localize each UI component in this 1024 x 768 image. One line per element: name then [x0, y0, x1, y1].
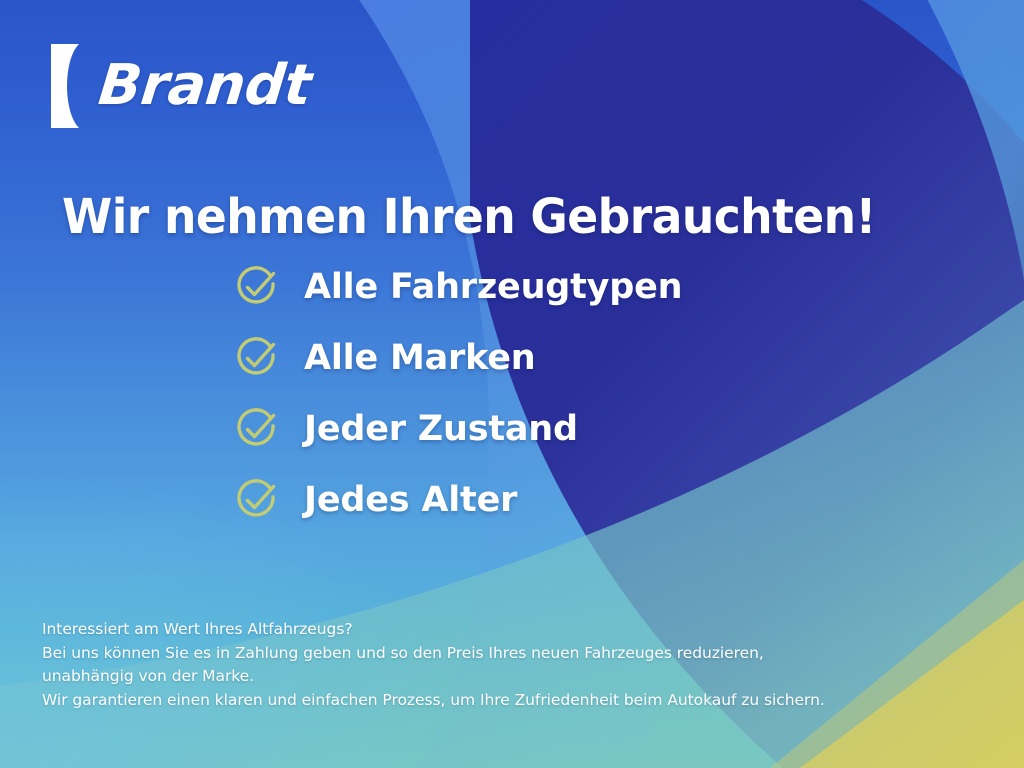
- right-edge-band-shape: [905, 0, 1024, 520]
- list-item: Jeder Zustand: [232, 404, 682, 454]
- footer-copy: Interessiert am Wert Ihres Altfahrzeugs?…: [42, 618, 984, 712]
- brand-name: Brandt: [96, 58, 314, 114]
- feature-label: Jeder Zustand: [304, 412, 578, 447]
- feature-label: Alle Marken: [304, 341, 536, 376]
- footer-line-2: Bei uns können Sie es in Zahlung geben u…: [42, 642, 984, 666]
- feature-label: Alle Fahrzeugtypen: [304, 270, 682, 305]
- check-circle-icon: [232, 262, 282, 312]
- bracket-crescent-icon: [49, 42, 95, 130]
- page-title: Wir nehmen Ihren Gebrauchten!: [62, 192, 876, 243]
- footer-line-4: Wir garantieren einen klaren und einfach…: [42, 689, 984, 713]
- check-circle-icon: [232, 404, 282, 454]
- check-circle-icon: [232, 333, 282, 383]
- brand-logo[interactable]: Brandt: [49, 42, 311, 130]
- footer-line-1: Interessiert am Wert Ihres Altfahrzeugs?: [42, 618, 984, 642]
- feature-list: Alle Fahrzeugtypen Alle Marken Jeder Zus…: [232, 262, 682, 525]
- check-circle-icon: [232, 475, 282, 525]
- promo-banner: Brandt Wir nehmen Ihren Gebrauchten! All…: [0, 0, 1024, 768]
- list-item: Jedes Alter: [232, 475, 682, 525]
- feature-label: Jedes Alter: [304, 483, 517, 518]
- footer-line-3: unabhängig von der Marke.: [42, 665, 984, 689]
- list-item: Alle Marken: [232, 333, 682, 383]
- list-item: Alle Fahrzeugtypen: [232, 262, 682, 312]
